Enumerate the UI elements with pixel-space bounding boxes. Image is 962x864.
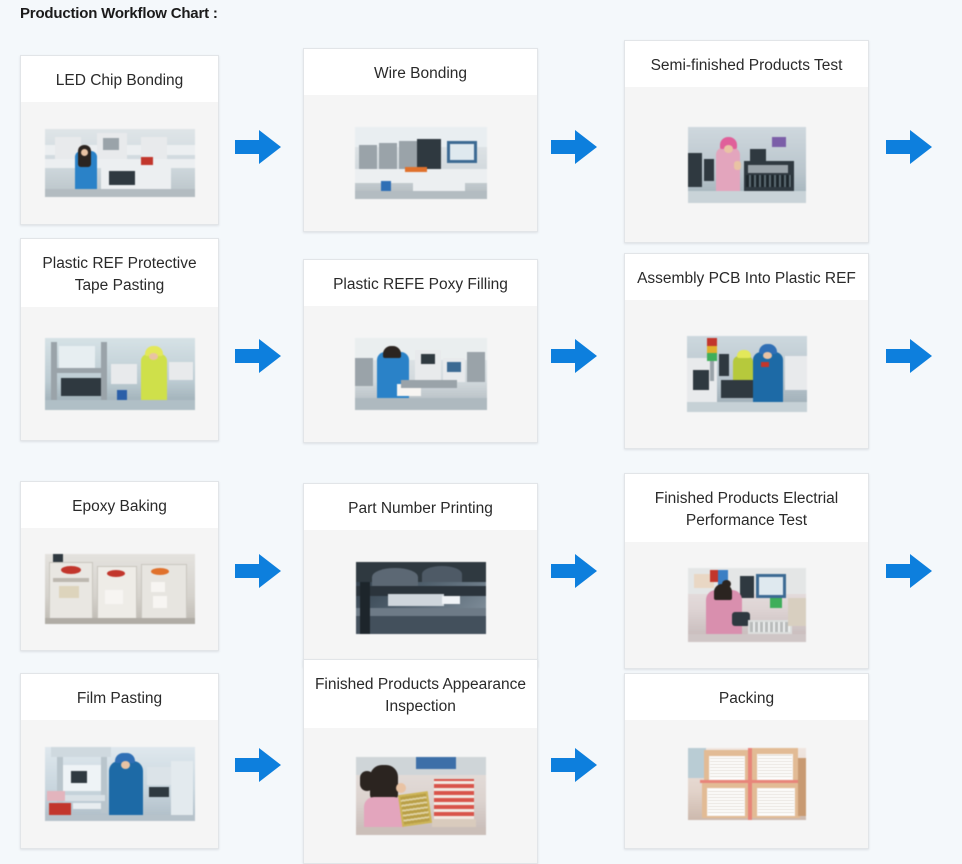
arrow-right-icon	[551, 336, 597, 376]
step-label: Plastic REFE Poxy Filling	[304, 260, 537, 296]
step-card-finished-products-electrial-performance-test[interactable]: Finished Products Electrial Performance …	[624, 473, 869, 669]
step-label: Packing	[625, 674, 868, 710]
step-card-film-pasting[interactable]: Film Pasting	[20, 673, 219, 849]
step-label: Semi-finished Products Test	[625, 41, 868, 77]
step-label: LED Chip Bonding	[21, 56, 218, 92]
step-card-plastic-ref-protective-tape-pasting[interactable]: Plastic REF Protective Tape Pasting	[20, 238, 219, 441]
step-card-part-number-printing[interactable]: Part Number Printing	[303, 483, 538, 667]
step-photo-finished-products-electrial-performance-test	[625, 542, 868, 668]
page-title: Production Workflow Chart :	[20, 5, 218, 22]
step-card-semi-finished-products-test[interactable]: Semi-finished Products Test	[624, 40, 869, 243]
step-label: Film Pasting	[21, 674, 218, 710]
step-label: Epoxy Baking	[21, 482, 218, 518]
arrow-right-icon	[551, 551, 597, 591]
step-label: Finished Products Appearance Inspection	[304, 660, 537, 718]
arrow-right-icon	[886, 127, 932, 167]
step-label: Assembly PCB Into Plastic REF	[625, 254, 868, 290]
step-card-packing[interactable]: Packing	[624, 673, 869, 849]
step-card-led-chip-bonding[interactable]: LED Chip Bonding	[20, 55, 219, 225]
step-card-finished-products-appearance-inspection[interactable]: Finished Products Appearance Inspection	[303, 659, 538, 864]
arrow-right-icon	[235, 336, 281, 376]
step-card-assembly-pcb-into-plastic-ref[interactable]: Assembly PCB Into Plastic REF	[624, 253, 869, 449]
workflow-row-4: Film Pasting	[0, 657, 962, 857]
step-label: Plastic REF Protective Tape Pasting	[21, 239, 218, 297]
arrow-right-icon	[551, 127, 597, 167]
step-photo-part-number-printing	[304, 530, 537, 666]
workflow-row-1: LED Chip Bonding	[0, 33, 962, 241]
step-card-epoxy-baking[interactable]: Epoxy Baking	[20, 481, 219, 651]
step-photo-plastic-refe-poxy-filling	[304, 306, 537, 442]
step-card-plastic-refe-poxy-filling[interactable]: Plastic REFE Poxy Filling	[303, 259, 538, 443]
step-label: Part Number Printing	[304, 484, 537, 520]
workflow-row-2: Plastic REF Protective Tape Pasting	[0, 241, 962, 461]
arrow-right-icon	[886, 551, 932, 591]
step-photo-assembly-pcb-into-plastic-ref	[625, 300, 868, 448]
arrow-right-icon	[235, 551, 281, 591]
arrow-right-icon	[235, 745, 281, 785]
step-photo-packing	[625, 720, 868, 848]
workflow-row-3: Epoxy Baking	[0, 461, 962, 657]
step-photo-plastic-ref-protective-tape-pasting	[21, 307, 218, 440]
step-label: Finished Products Electrial Performance …	[625, 474, 868, 532]
arrow-right-icon	[551, 745, 597, 785]
step-card-wire-bonding[interactable]: Wire Bonding	[303, 48, 538, 232]
arrow-right-icon	[886, 336, 932, 376]
production-workflow-chart: LED Chip Bonding	[0, 33, 962, 857]
arrow-right-icon	[235, 127, 281, 167]
step-label: Wire Bonding	[304, 49, 537, 85]
step-photo-led-chip-bonding	[21, 102, 218, 224]
step-photo-semi-finished-products-test	[625, 87, 868, 242]
step-photo-epoxy-baking	[21, 528, 218, 650]
step-photo-finished-products-appearance-inspection	[304, 728, 537, 863]
step-photo-film-pasting	[21, 720, 218, 848]
step-photo-wire-bonding	[304, 95, 537, 231]
